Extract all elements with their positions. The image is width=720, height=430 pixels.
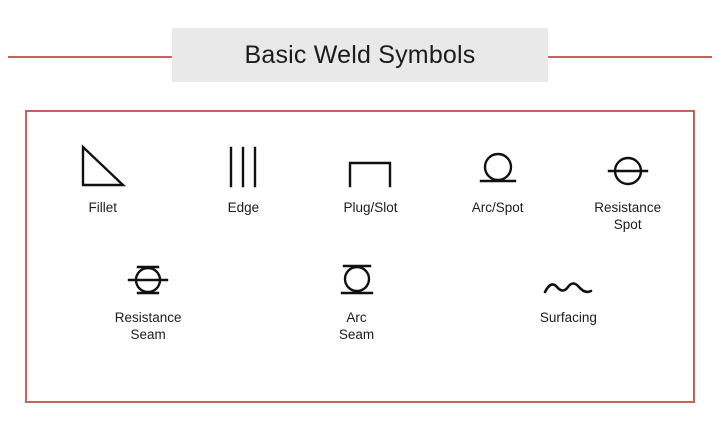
symbol-cell-plug-slot: Plug/Slot — [308, 142, 433, 233]
edge-three-bars-icon — [226, 142, 260, 188]
symbol-cell-edge: Edge — [179, 142, 309, 233]
fillet-triangle-icon — [80, 142, 126, 188]
resistance-seam-circle-bars-axis-icon — [125, 252, 171, 298]
symbol-label: Arc/Spot — [472, 199, 524, 216]
symbol-cell-resistance-spot: Resistance Spot — [562, 142, 693, 233]
page-title: Basic Weld Symbols — [245, 41, 476, 70]
symbol-label: Plug/Slot — [343, 199, 397, 216]
weld-symbols-panel: Fillet Edge Plug/Slot — [25, 110, 695, 403]
title-area: Basic Weld Symbols — [0, 20, 720, 92]
symbol-label: Fillet — [89, 199, 118, 216]
arc-seam-circle-bars-icon — [335, 252, 379, 298]
plug-slot-bracket-icon — [347, 142, 393, 188]
title-band: Basic Weld Symbols — [172, 28, 548, 82]
symbol-row-1: Fillet Edge Plug/Slot — [27, 142, 693, 233]
symbol-cell-arc-spot: Arc/Spot — [433, 142, 563, 233]
resistance-spot-circle-with-axis-icon — [605, 142, 651, 188]
symbol-label: Resistance Spot — [594, 199, 661, 233]
symbol-cell-arc-seam: Arc Seam — [269, 252, 443, 343]
symbol-cell-fillet: Fillet — [27, 142, 179, 233]
symbol-row-2: Resistance Seam Arc Seam Surfacing — [27, 252, 693, 343]
arc-spot-circle-on-line-icon — [476, 142, 520, 188]
symbol-label: Edge — [228, 199, 260, 216]
surfacing-wave-icon — [542, 252, 594, 298]
symbol-cell-resistance-seam: Resistance Seam — [27, 252, 269, 343]
symbol-label: Arc Seam — [339, 309, 374, 343]
symbol-label: Surfacing — [540, 309, 597, 326]
symbol-label: Resistance Seam — [115, 309, 182, 343]
symbol-cell-surfacing: Surfacing — [444, 252, 693, 343]
